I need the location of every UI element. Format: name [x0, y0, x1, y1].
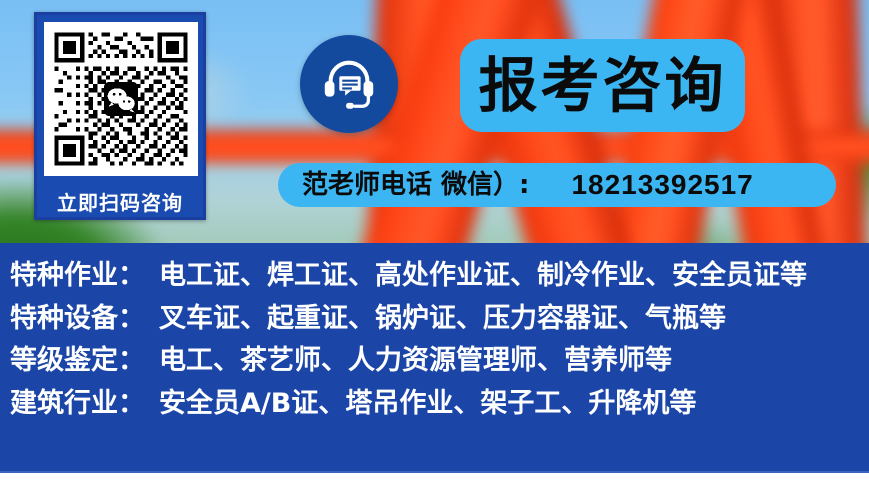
- cta-label: 报考咨询: [478, 56, 726, 115]
- qr-code-card[interactable]: 立即扫码咨询: [34, 12, 206, 220]
- category-items: 电工证、焊工证、高处作业证、制冷作业、安全员证等: [159, 259, 807, 294]
- panel-divider: [0, 471, 869, 473]
- headset-support-badge[interactable]: [300, 35, 398, 133]
- category-items: 电工、茶艺师、人力资源管理师、营养师等: [159, 344, 672, 379]
- qr-caption: 立即扫码咨询: [37, 193, 203, 213]
- certificate-category-panel: 特种作业： 电工证、焊工证、高处作业证、制冷作业、安全员证等 特种设备： 叉车证…: [0, 243, 869, 471]
- bottom-photo-strip: [0, 471, 869, 491]
- contact-bar[interactable]: 范老师电话 微信）: 18213392517: [278, 163, 836, 207]
- list-item: 特种作业： 电工证、焊工证、高处作业证、制冷作业、安全员证等: [10, 259, 869, 294]
- category-items: 安全员A/B证、塔吊作业、架子工、升降机等: [159, 387, 696, 422]
- qr-code-frame: [44, 22, 198, 176]
- wechat-icon: [104, 82, 138, 116]
- category-items: 叉车证、起重证、锅炉证、压力容器证、气瓶等: [159, 302, 726, 337]
- list-item: 特种设备： 叉车证、起重证、锅炉证、压力容器证、气瓶等: [10, 302, 869, 337]
- promo-poster: 立即扫码咨询 报考咨询 范老师电话 微信）: 18213392517: [0, 0, 869, 491]
- consultation-cta-button[interactable]: 报考咨询: [460, 39, 745, 132]
- list-item: 建筑行业： 安全员A/B证、塔吊作业、架子工、升降机等: [10, 387, 869, 422]
- qr-code-image[interactable]: [50, 28, 192, 170]
- category-label: 特种设备：: [10, 302, 145, 337]
- category-label: 等级鉴定：: [10, 344, 145, 379]
- bottom-construction-photo: [0, 471, 869, 491]
- category-label: 建筑行业：: [10, 387, 145, 422]
- headset-support-icon: [318, 53, 380, 115]
- contact-label: 范老师电话 微信）:: [302, 172, 529, 198]
- list-item: 等级鉴定： 电工、茶艺师、人力资源管理师、营养师等: [10, 344, 869, 379]
- category-label: 特种作业：: [10, 259, 145, 294]
- contact-phone-number[interactable]: 18213392517: [571, 171, 753, 199]
